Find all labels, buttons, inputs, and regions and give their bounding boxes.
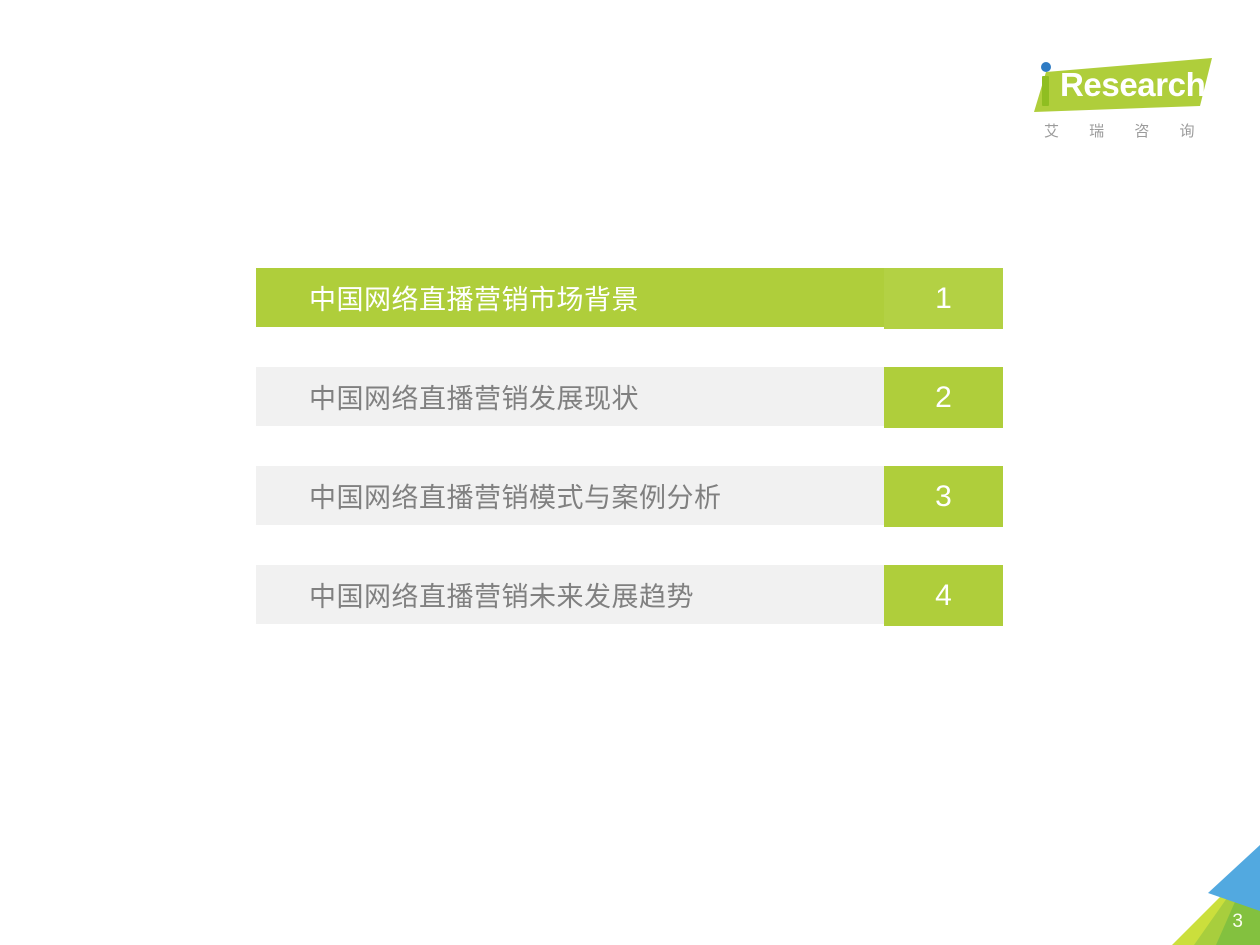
agenda-item-1-number-box: 1	[884, 268, 1003, 329]
logo-mark: Research	[1032, 58, 1212, 116]
agenda-item-3-number: 3	[935, 482, 952, 512]
agenda-item-1-label: 中国网络直播营销市场背景	[309, 268, 639, 327]
agenda-item-4-number: 4	[935, 581, 952, 611]
agenda-item-1-number: 1	[935, 284, 952, 314]
agenda-item-1[interactable]: 1 中国网络直播营销市场背景	[256, 268, 1003, 327]
agenda-item-2-number: 2	[935, 383, 952, 413]
slide-canvas: Research 艾 瑞 咨 询 1 中国网络直播营销市场背景 2 中国网络直播…	[0, 0, 1260, 945]
agenda-item-2[interactable]: 2 中国网络直播营销发展现状	[256, 367, 1003, 426]
iresearch-logo: Research 艾 瑞 咨 询	[1032, 58, 1212, 148]
logo-letter-i-dot-icon	[1041, 62, 1051, 72]
agenda-item-4-label: 中国网络直播营销未来发展趋势	[309, 565, 694, 624]
agenda-list: 1 中国网络直播营销市场背景 2 中国网络直播营销发展现状 3 中国网络直播营销…	[256, 268, 1003, 624]
logo-letter-i-stem	[1042, 76, 1049, 106]
agenda-item-3-number-box: 3	[884, 466, 1003, 527]
agenda-item-2-number-box: 2	[884, 367, 1003, 428]
agenda-item-3[interactable]: 3 中国网络直播营销模式与案例分析	[256, 466, 1003, 525]
agenda-item-2-label: 中国网络直播营销发展现状	[309, 367, 639, 426]
logo-wordmark: Research	[1060, 64, 1205, 106]
agenda-item-4-number-box: 4	[884, 565, 1003, 626]
corner-decoration: 3	[1120, 845, 1260, 945]
page-number: 3	[1232, 912, 1243, 931]
agenda-item-3-label: 中国网络直播营销模式与案例分析	[309, 466, 722, 525]
logo-subtitle: 艾 瑞 咨 询	[1044, 120, 1208, 141]
agenda-item-4[interactable]: 4 中国网络直播营销未来发展趋势	[256, 565, 1003, 624]
